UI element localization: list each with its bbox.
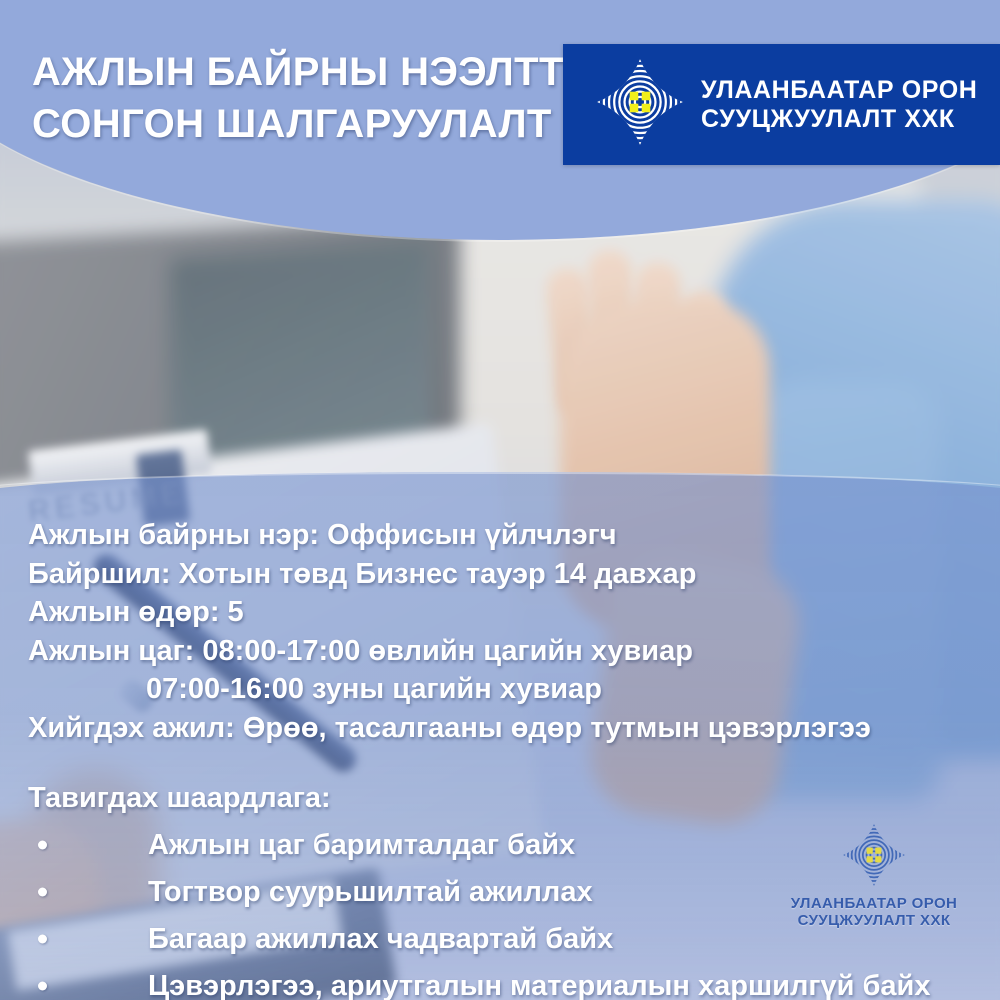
detail-location: Байршил: Хотын төвд Бизнес тауэр 14 давх… <box>28 555 972 594</box>
bullet-icon <box>38 841 47 850</box>
content-overlay-edge-line <box>0 472 1000 512</box>
watermark-name-line-2: СУУЦЖУУЛАЛТ ХХК <box>768 912 980 929</box>
headline-line-1: АЖЛЫН БАЙРНЫ НЭЭЛТТЭЙ <box>32 46 562 98</box>
list-item-label: Ажлын цаг баримталдаг байх <box>148 829 575 861</box>
ub-oron-suutsjuulalt-watermark-icon <box>843 873 905 890</box>
job-posting-poster: RESUME АЖЛЫН БАЙРНЫ НЭЭЛТТЭЙ СОНГОН ШАЛГ… <box>0 0 1000 1000</box>
bullet-icon <box>38 935 47 944</box>
brand-banner: УЛААНБААТАР ОРОН СУУЦЖУУЛАЛТ ХХК <box>563 44 1000 165</box>
brand-name-line-2: СУУЦЖУУЛАЛТ ХХК <box>701 105 977 134</box>
detail-hours-summer: 07:00-16:00 зуны цагийн хувиар <box>28 670 972 709</box>
detail-job-title: Ажлын байрны нэр: Оффисын үйлчлэгч <box>28 516 972 555</box>
watermark-wordmark: УЛААНБААТАР ОРОН СУУЦЖУУЛАЛТ ХХК <box>768 895 980 929</box>
brand-name-line-1: УЛААНБААТАР ОРОН <box>701 76 977 105</box>
headline-line-2: СОНГОН ШАЛГАРУУЛАЛТ <box>32 98 562 150</box>
watermark-name-line-1: УЛААНБААТАР ОРОН <box>768 895 980 912</box>
list-item-label: Тогтвор суурьшилтай ажиллах <box>148 876 593 908</box>
page-title: АЖЛЫН БАЙРНЫ НЭЭЛТТЭЙ СОНГОН ШАЛГАРУУЛАЛ… <box>32 46 562 150</box>
brand-wordmark: УЛААНБААТАР ОРОН СУУЦЖУУЛАЛТ ХХК <box>701 76 977 134</box>
detail-hours-winter: Ажлын цаг: 08:00-17:00 өвлийн цагийн хув… <box>28 632 972 671</box>
bullet-icon <box>38 982 47 991</box>
list-item: Цэвэрлэгээ, ариутгалын материалын харшил… <box>28 963 972 1000</box>
brand-watermark: УЛААНБААТАР ОРОН СУУЦЖУУЛАЛТ ХХК <box>768 824 980 929</box>
requirements-title: Тавигдах шаардлага: <box>28 779 972 818</box>
list-item-label: Цэвэрлэгээ, ариутгалын материалын харшил… <box>148 970 930 1000</box>
bullet-icon <box>38 888 47 897</box>
list-item-label: Багаар ажиллах чадвартай байх <box>148 923 613 955</box>
detail-duties: Хийгдэх ажил: Өрөө, тасалгааны өдөр тутм… <box>28 709 972 748</box>
ub-oron-suutsjuulalt-logo-icon <box>597 59 683 150</box>
detail-workdays: Ажлын өдөр: 5 <box>28 593 972 632</box>
